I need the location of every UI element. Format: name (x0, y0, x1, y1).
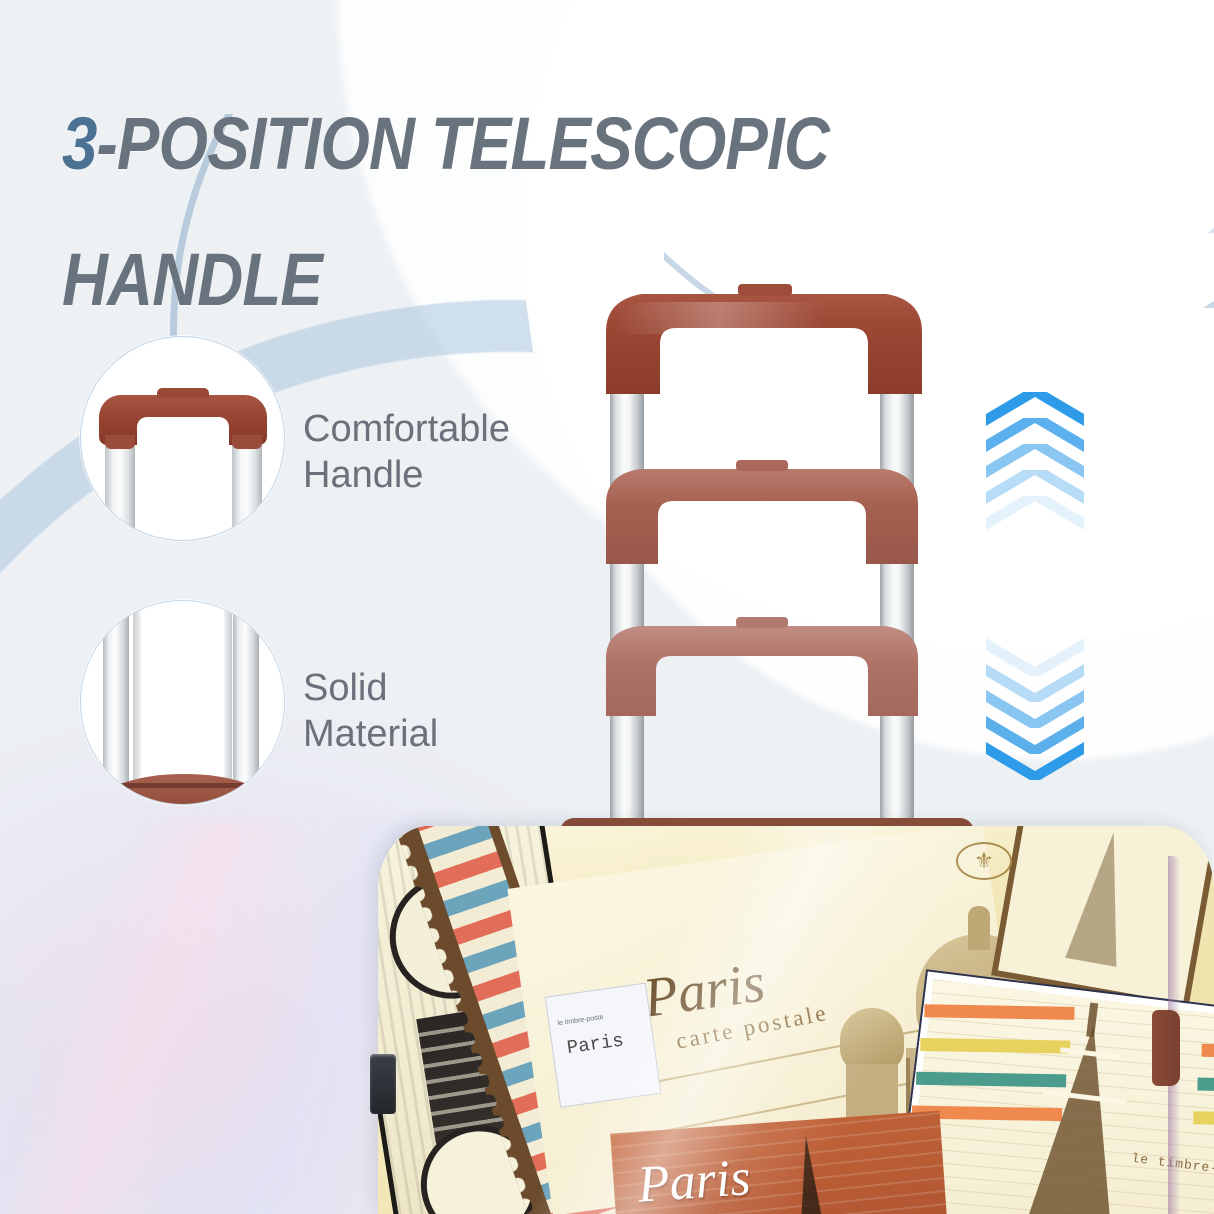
page-title-number: 3 (62, 102, 97, 185)
mini-handle-slot (137, 417, 229, 465)
callout-solid-material-label: Solid Material (303, 665, 438, 758)
mini-leg-cap-left (105, 435, 135, 449)
mini-leg-cap-right (232, 435, 262, 449)
chevron-down-stack (980, 636, 1090, 786)
mini-tube-right-inner (224, 600, 232, 805)
mini-tube-left (103, 600, 129, 805)
iridescent-streaks (0, 820, 720, 1214)
mini-strut-right (232, 437, 262, 541)
mini-tube-illustration (81, 601, 285, 805)
mini-tube-left-inner (133, 600, 141, 805)
page-title-line1-rest: -POSITION TELESCOPIC (97, 102, 829, 185)
mini-strut-left (105, 437, 135, 541)
callout-solid-material-image (80, 600, 285, 805)
chevron-up-stack (980, 392, 1090, 532)
chevron-up-5 (980, 496, 1090, 536)
callout-comfortable-handle-image (80, 336, 285, 541)
mini-tube-right (233, 600, 259, 805)
mini-handle-illustration (81, 337, 285, 541)
page-title-line2: HANDLE (62, 238, 322, 321)
callout-comfortable-handle-label: Comfortable Handle (303, 406, 510, 499)
chevron-down-5 (980, 740, 1090, 780)
page-title: 3-POSITION TELESCOPIC HANDLE (62, 42, 922, 314)
